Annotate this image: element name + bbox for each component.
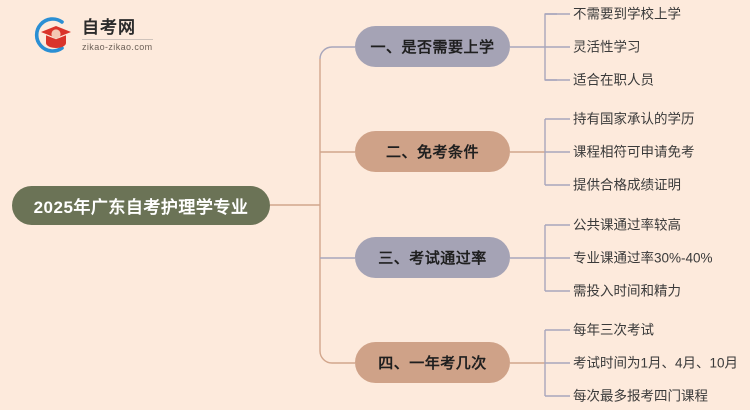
branch-node-1-label: 一、是否需要上学 [370,36,494,57]
branch-1-spine [545,14,557,80]
branch-node-1[interactable]: 一、是否需要上学 [355,26,510,67]
branch-node-2-label: 二、免考条件 [386,141,479,162]
root-node-label: 2025年广东自考护理学专业 [34,193,249,218]
leaf-1-1: 不需要到学校上学 [573,7,681,21]
leaf-1-3: 适合在职人员 [573,73,654,87]
leaf-3-1: 公共课通过率较高 [573,218,681,232]
logo-title: 自考网 [82,19,153,40]
leaf-4-1: 每年三次考试 [573,323,654,337]
leaf-4-2: 考试时间为1月、4月、10月 [573,356,738,370]
mindmap-canvas: 自考网 zikao-zikao.com [0,0,750,410]
leaf-3-2: 专业课通过率30%-40% [573,251,713,265]
branch-node-3-label: 三、考试通过率 [378,247,487,268]
logo-subtitle: zikao-zikao.com [82,40,153,52]
branch-4-elbow [320,351,355,363]
branch-node-4-label: 四、一年考几次 [378,352,487,373]
logo-text: 自考网 zikao-zikao.com [82,19,153,52]
branch-node-4[interactable]: 四、一年考几次 [355,342,510,383]
branch-node-2[interactable]: 二、免考条件 [355,131,510,172]
logo-mark-icon [28,12,74,58]
leaf-2-3: 提供合格成绩证明 [573,178,681,192]
leaf-1-2: 灵活性学习 [573,40,641,54]
leaf-2-2: 课程相符可申请免考 [573,145,695,159]
branch-1-elbow [320,47,355,59]
leaf-4-3: 每次最多报考四门课程 [573,389,708,403]
leaf-3-3: 需投入时间和精力 [573,284,681,298]
leaf-2-1: 持有国家承认的学历 [573,112,695,126]
site-logo: 自考网 zikao-zikao.com [28,12,208,58]
logo-glyph-icon [28,12,74,58]
root-node[interactable]: 2025年广东自考护理学专业 [12,186,270,225]
branch-node-3[interactable]: 三、考试通过率 [355,237,510,278]
